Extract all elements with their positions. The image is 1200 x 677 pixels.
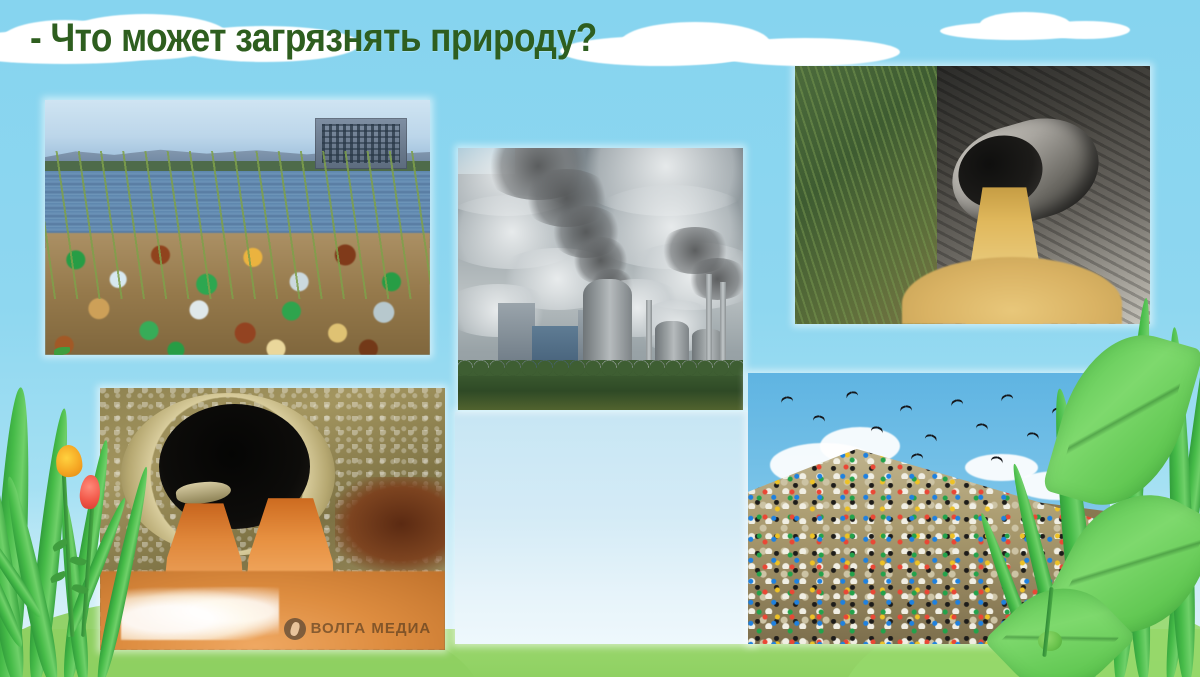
cloud-icon	[560, 22, 890, 66]
watermark: ВОЛГА МЕДИА	[284, 618, 432, 640]
drain-pipe-torrent-photo[interactable]: ВОЛГА МЕДИА	[100, 388, 445, 650]
power-plant-smoke-photo[interactable]	[458, 148, 743, 410]
polluted-lakeshore-photo[interactable]	[45, 100, 430, 355]
empty-image-placeholder[interactable]	[455, 412, 755, 644]
landfill-birds-photo[interactable]	[748, 373, 1110, 644]
presentation-slide: ВОЛГА МЕДИА	[0, 0, 1200, 677]
slide-title: - Что может загрязнять природу?	[30, 16, 597, 61]
cloud-icon	[940, 12, 1130, 40]
watermark-logo-icon	[284, 618, 306, 640]
sewage-outfall-photo[interactable]	[795, 66, 1150, 324]
watermark-label: ВОЛГА МЕДИА	[311, 620, 432, 637]
